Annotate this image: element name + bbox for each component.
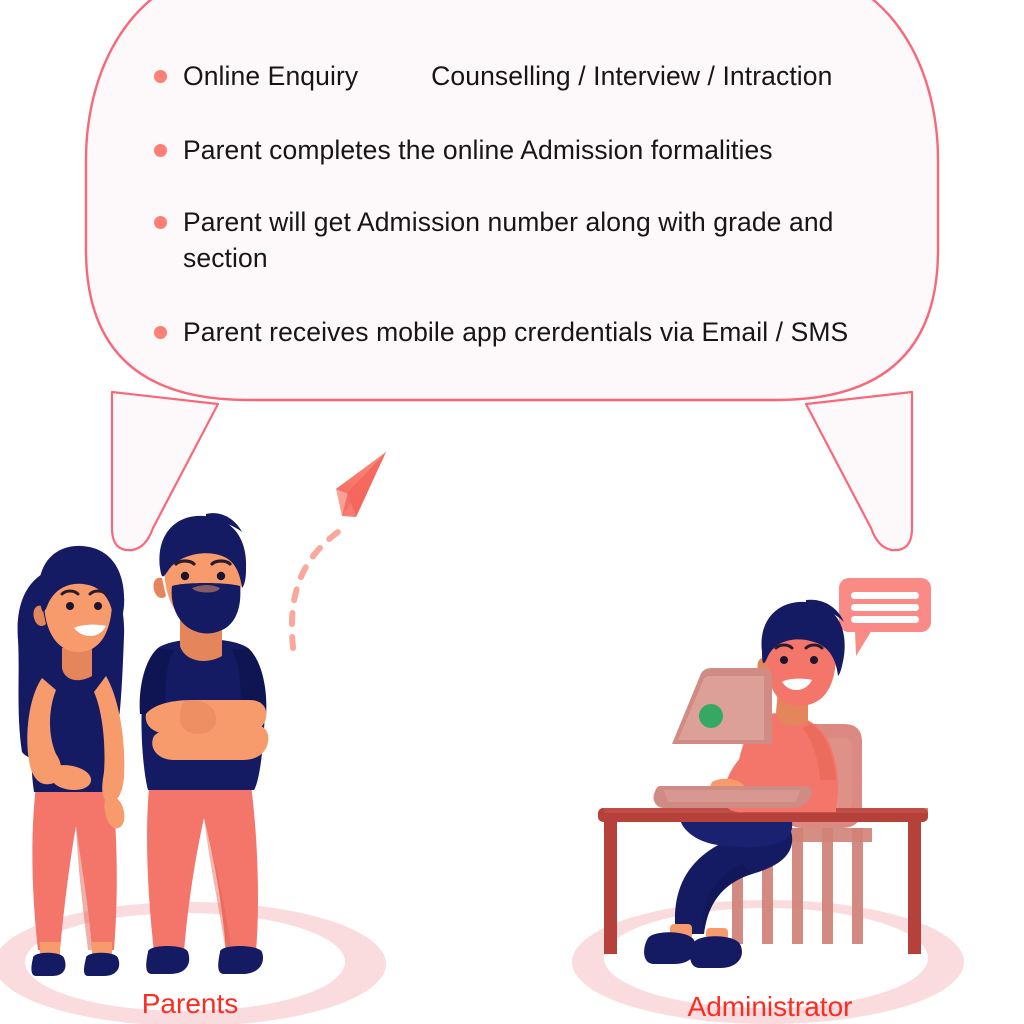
woman-shoe-right [84, 953, 119, 976]
step-label: Parent completes the online Admission fo… [183, 135, 773, 165]
admin-shoe-left [644, 932, 696, 964]
bubble-content: Online Enquiry Counselling / Interview /… [150, 44, 920, 350]
list-item: Parent will get Admission number along w… [150, 204, 920, 276]
bullet-dot-icon [154, 216, 167, 229]
step-label: Parent receives mobile app crerdentials … [183, 317, 848, 347]
bullet-dot-icon [154, 70, 167, 83]
man-shoe-left [146, 946, 189, 974]
step-label-secondary: Counselling / Interview / Intraction [431, 61, 832, 91]
step-label: Parent will get Admission number along w… [183, 207, 834, 273]
list-item: Parent receives mobile app crerdentials … [150, 314, 920, 350]
laptop-power-indicator [699, 704, 723, 728]
figure-administrator [598, 578, 931, 968]
bullet-dot-icon [154, 326, 167, 339]
list-item: Parent completes the online Admission fo… [150, 132, 920, 168]
figure-woman [18, 546, 125, 976]
man-shoe-right [218, 946, 263, 974]
bullet-dot-icon [154, 144, 167, 157]
woman-shoe-left [31, 953, 65, 976]
illustration-root: Online Enquiry Counselling / Interview /… [0, 0, 1024, 1024]
admin-shoe-right [690, 936, 742, 968]
step-label: Online Enquiry [183, 61, 358, 91]
paper-plane-icon [336, 452, 386, 517]
list-item: Online Enquiry Counselling / Interview /… [150, 58, 920, 94]
parents-label: Parents [0, 988, 380, 1020]
chat-bubble-icon [839, 578, 931, 656]
administrator-label: Administrator [580, 991, 960, 1023]
paper-plane-group [292, 452, 386, 648]
admission-steps-list: Online Enquiry Counselling / Interview /… [150, 58, 920, 350]
bubble-tail-right [806, 392, 912, 550]
paper-plane-trail [292, 532, 338, 648]
